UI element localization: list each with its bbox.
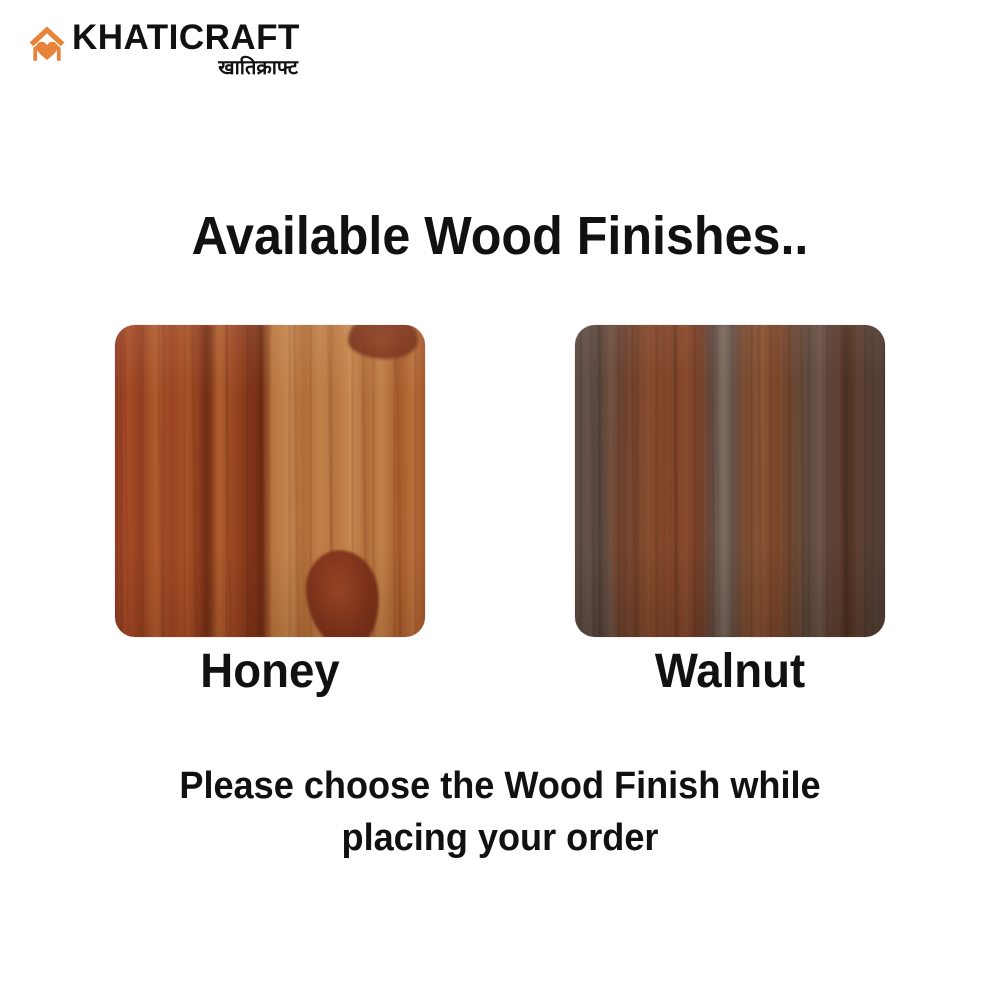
finish-label-honey: Honey — [123, 647, 418, 697]
finish-swatch-row: Honey Walnut — [0, 325, 1000, 695]
instruction-note-line-1: Please choose the Wood Finish while — [179, 765, 820, 807]
instruction-note-line-2: placing your order — [342, 817, 659, 859]
finish-label-walnut: Walnut — [583, 647, 878, 697]
honey-wood-swatch[interactable] — [115, 325, 425, 637]
finish-option-honey[interactable]: Honey — [115, 325, 425, 697]
walnut-sheen-overlay — [575, 325, 885, 637]
page-title: Available Wood Finishes.. — [35, 208, 965, 265]
brand-logo-lockup: KHATICRAFT खातिक्राफ्ट — [28, 20, 300, 77]
wood-finishes-poster: KHATICRAFT खातिक्राफ्ट Available Wood Fi… — [0, 0, 1000, 1000]
instruction-note: Please choose the Wood Finish while plac… — [149, 760, 852, 865]
finish-option-walnut[interactable]: Walnut — [575, 325, 885, 697]
walnut-wood-swatch[interactable] — [575, 325, 885, 637]
honey-sheen-overlay — [115, 325, 425, 637]
brand-name: KHATICRAFT — [72, 20, 300, 55]
house-heart-icon — [28, 24, 66, 64]
brand-subtitle-devanagari: खातिक्राफ्ट — [218, 57, 300, 77]
brand-text-block: KHATICRAFT खातिक्राफ्ट — [72, 20, 300, 77]
